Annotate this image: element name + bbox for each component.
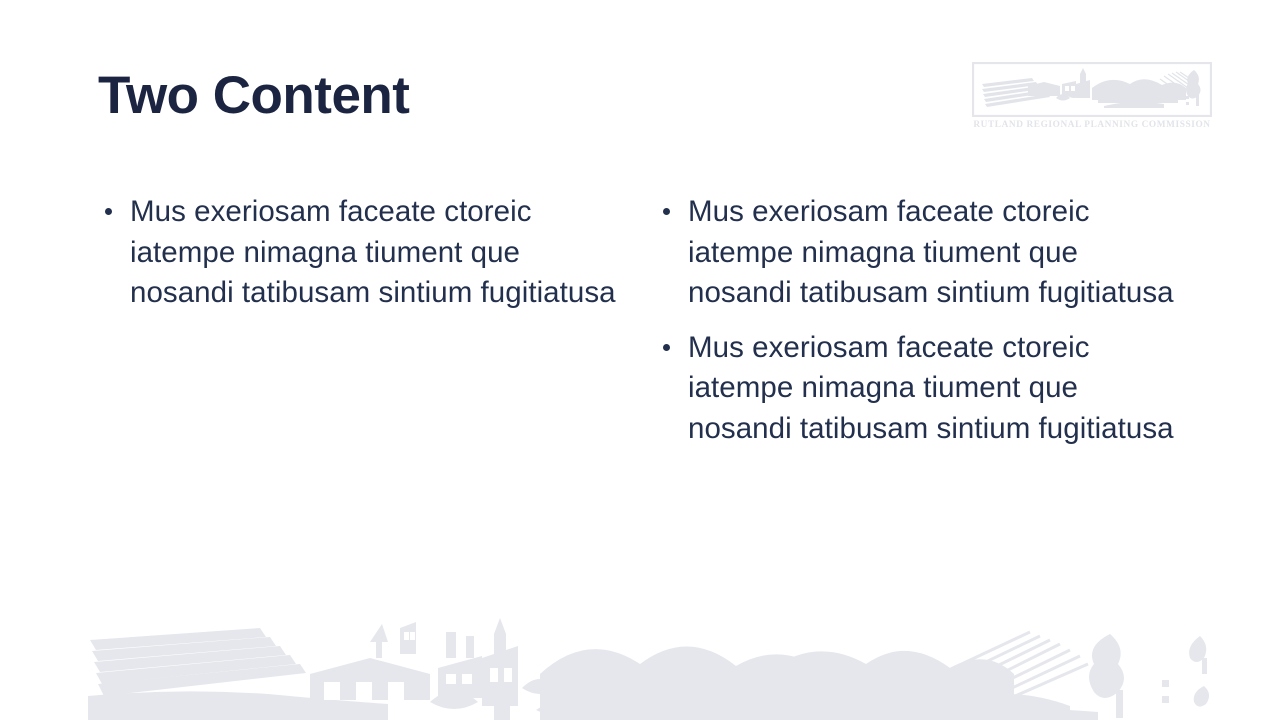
content-placeholder-left[interactable]: Mus exeriosam faceate ctoreic iatempe ni…	[100, 192, 620, 314]
rrpc-landscape-watermark-icon	[70, 618, 1245, 720]
list-item: Mus exeriosam faceate ctoreic iatempe ni…	[100, 192, 620, 314]
page-title: Two Content	[98, 66, 918, 125]
content-placeholder-right[interactable]: Mus exeriosam faceate ctoreic iatempe ni…	[658, 192, 1178, 449]
list-item-text: Mus exeriosam faceate ctoreic iatempe ni…	[688, 331, 1174, 445]
slide-canvas: Two Content Mus exeriosam faceate ctorei…	[0, 0, 1280, 720]
list-item-text: Mus exeriosam faceate ctoreic iatempe ni…	[130, 195, 616, 309]
list-item: Mus exeriosam faceate ctoreic iatempe ni…	[658, 192, 1178, 314]
organization-logo: RUTLAND REGIONAL PLANNING COMMISSION	[972, 62, 1212, 140]
bullet-dot-icon	[663, 208, 670, 215]
rrpc-landscape-logo-icon	[972, 62, 1212, 117]
bullet-dot-icon	[105, 208, 112, 215]
list-item-text: Mus exeriosam faceate ctoreic iatempe ni…	[688, 195, 1174, 309]
list-item: Mus exeriosam faceate ctoreic iatempe ni…	[658, 328, 1178, 450]
logo-caption: RUTLAND REGIONAL PLANNING COMMISSION	[972, 120, 1212, 130]
bullet-dot-icon	[663, 344, 670, 351]
